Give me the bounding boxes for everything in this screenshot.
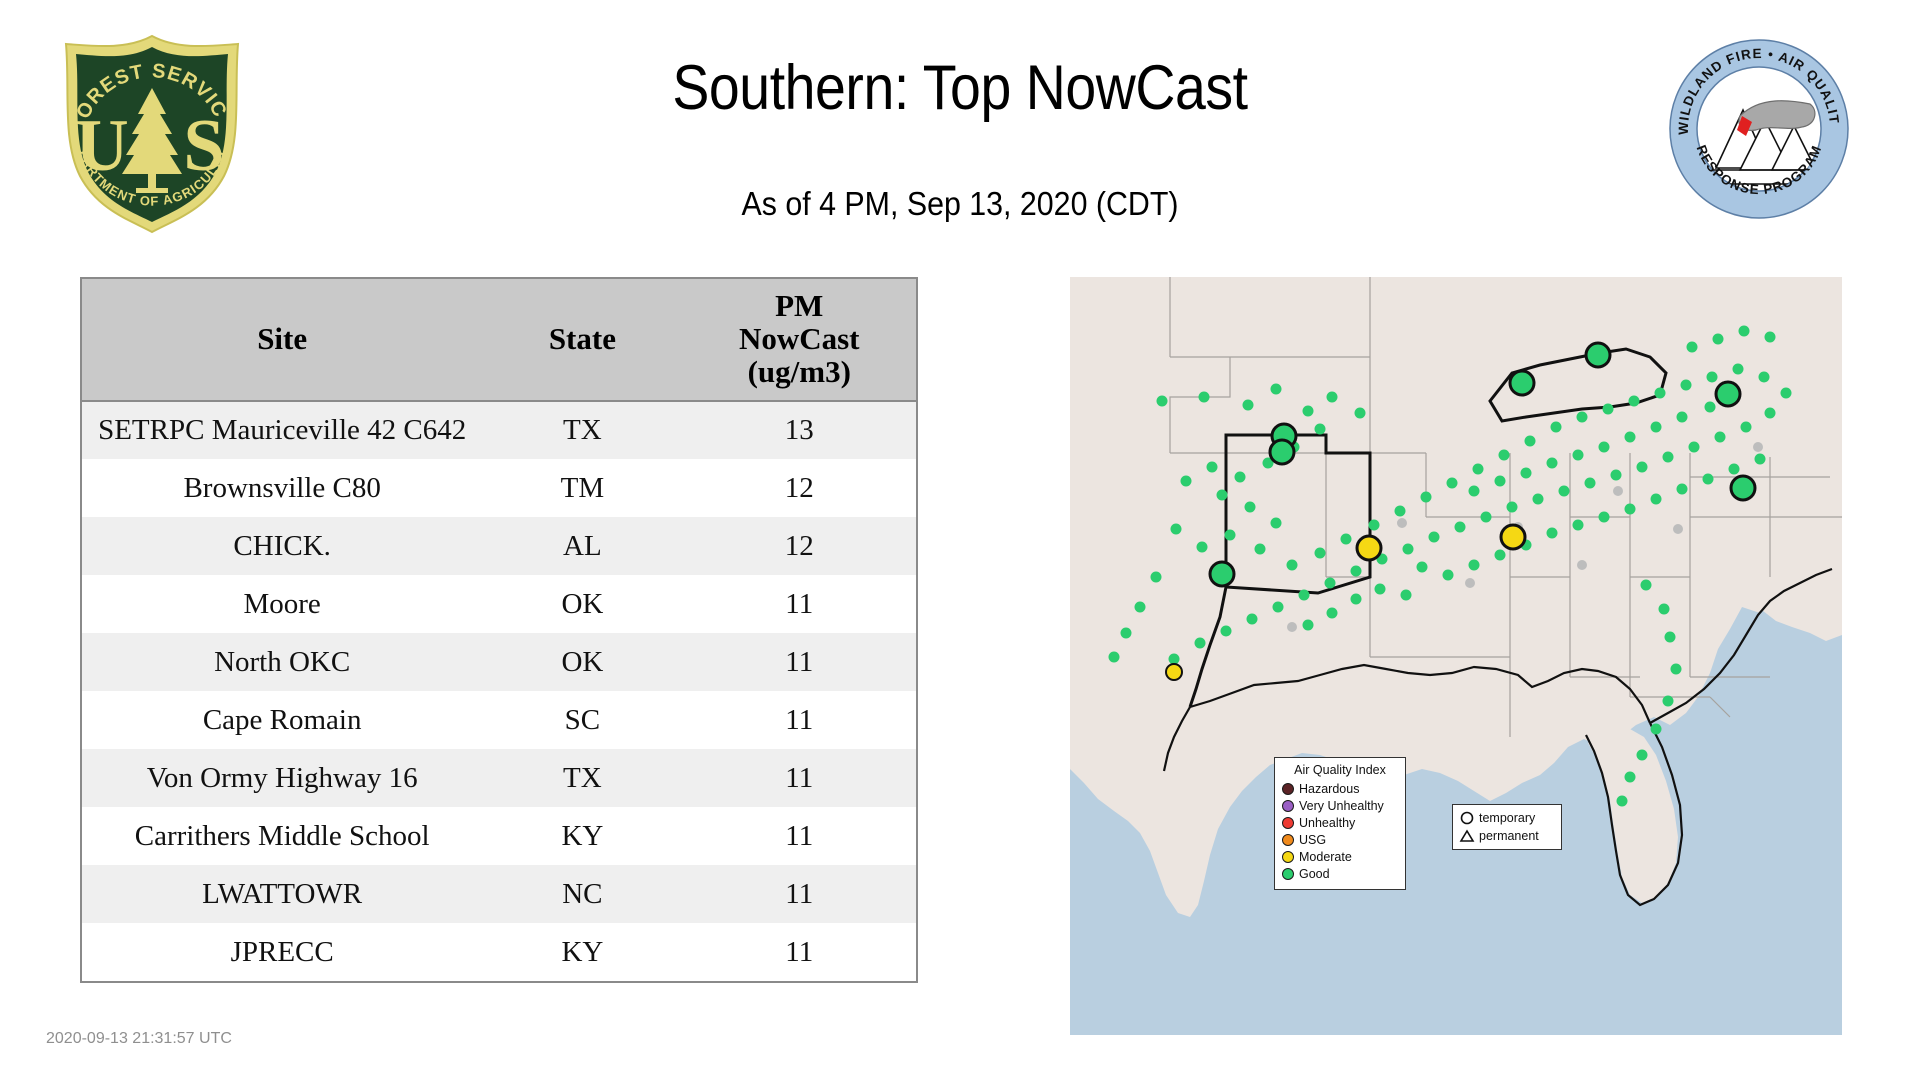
wildland-fire-air-quality-logo: WILDLAND FIRE • AIR QUALITY RESPONSE PRO… — [1668, 38, 1850, 220]
aqi-legend-title: Air Quality Index — [1282, 763, 1398, 777]
temporary-circle-icon — [1459, 810, 1475, 826]
cell-site: SETRPC Mauriceville 42 C642 — [82, 401, 482, 459]
cell-site: JPRECC — [82, 923, 482, 981]
cell-state: NC — [482, 865, 682, 923]
table-row: Carrithers Middle School KY 11 — [82, 807, 916, 865]
symbol-legend: temporary permanent — [1452, 804, 1562, 850]
marker-cape-romain — [1731, 476, 1755, 500]
page-title: Southern: Top NowCast — [379, 52, 1541, 124]
table-row: Cape Romain SC 11 — [82, 691, 916, 749]
column-header-value: PM NowCast (ug/m3) — [682, 279, 916, 401]
legend-label-permanent: permanent — [1479, 829, 1539, 843]
cell-value: 11 — [682, 865, 916, 923]
page-subtitle: As of 4 PM, Sep 13, 2020 (CDT) — [353, 185, 1567, 223]
legend-item-very-unhealthy: Very Unhealthy — [1282, 797, 1398, 814]
table-row: JPRECC KY 11 — [82, 923, 916, 981]
cell-state: OK — [482, 633, 682, 691]
cell-site: Cape Romain — [82, 691, 482, 749]
table-row: Brownsville C80 TM 12 — [82, 459, 916, 517]
cell-site: LWATTOWR — [82, 865, 482, 923]
table-row: Von Ormy Highway 16 TX 11 — [82, 749, 916, 807]
map-svg — [1070, 277, 1842, 1035]
cell-value: 12 — [682, 459, 916, 517]
legend-dot-hazardous — [1282, 783, 1294, 795]
cell-value: 12 — [682, 517, 916, 575]
table-header-row: Site State PM NowCast (ug/m3) — [82, 279, 916, 401]
cell-state: AL — [482, 517, 682, 575]
cell-state: SC — [482, 691, 682, 749]
cell-state: OK — [482, 575, 682, 633]
legend-label-unhealthy: Unhealthy — [1299, 816, 1355, 830]
legend-dot-unhealthy — [1282, 817, 1294, 829]
marker-brownsville-c80 — [1166, 664, 1182, 680]
marker-setrpc-mauriceville — [1357, 536, 1381, 560]
legend-item-temporary: temporary — [1459, 809, 1555, 827]
cell-site: North OKC — [82, 633, 482, 691]
marker-moore — [1270, 440, 1294, 464]
aqi-legend: Air Quality Index Hazardous Very Unhealt… — [1274, 757, 1406, 890]
cell-site: Moore — [82, 575, 482, 633]
permanent-triangle-icon — [1459, 828, 1475, 844]
slide-page: FOREST SERVICE U S DEPARTMENT OF AGRICUL… — [0, 0, 1920, 1080]
legend-dot-good — [1282, 868, 1294, 880]
cell-value: 11 — [682, 691, 916, 749]
air-quality-map: Air Quality Index Hazardous Very Unhealt… — [1070, 277, 1842, 1035]
legend-item-hazardous: Hazardous — [1282, 780, 1398, 797]
cell-value: 11 — [682, 575, 916, 633]
nowcast-table: Site State PM NowCast (ug/m3) SETRPC Mau… — [82, 279, 916, 981]
generation-timestamp: 2020-09-13 21:31:57 UTC — [46, 1030, 232, 1048]
marker-jprecc — [1510, 371, 1534, 395]
legend-item-unhealthy: Unhealthy — [1282, 814, 1398, 831]
table-row: Moore OK 11 — [82, 575, 916, 633]
table-row: North OKC OK 11 — [82, 633, 916, 691]
cell-state: KY — [482, 923, 682, 981]
cell-state: TX — [482, 749, 682, 807]
cell-state: TM — [482, 459, 682, 517]
legend-label-good: Good — [1299, 867, 1330, 881]
forest-service-logo: FOREST SERVICE U S DEPARTMENT OF AGRICUL… — [52, 30, 252, 235]
legend-item-moderate: Moderate — [1282, 848, 1398, 865]
table-body: SETRPC Mauriceville 42 C642 TX 13 Browns… — [82, 401, 916, 981]
marker-carrithers-middle-school — [1586, 343, 1610, 367]
cell-value: 11 — [682, 749, 916, 807]
column-header-state: State — [482, 279, 682, 401]
table-row: CHICK. AL 12 — [82, 517, 916, 575]
legend-dot-moderate — [1282, 851, 1294, 863]
legend-label-usg: USG — [1299, 833, 1326, 847]
cell-state: KY — [482, 807, 682, 865]
cell-value: 11 — [682, 633, 916, 691]
cell-value: 11 — [682, 923, 916, 981]
cell-site: CHICK. — [82, 517, 482, 575]
nowcast-table-container: Site State PM NowCast (ug/m3) SETRPC Mau… — [80, 277, 918, 983]
cell-site: Brownsville C80 — [82, 459, 482, 517]
cell-value: 13 — [682, 401, 916, 459]
marker-von-ormy-highway-16 — [1210, 562, 1234, 586]
legend-label-hazardous: Hazardous — [1299, 782, 1359, 796]
table-row: LWATTOWR NC 11 — [82, 865, 916, 923]
column-header-value-line2: NowCast — [682, 323, 916, 356]
column-header-value-line3: (ug/m3) — [682, 356, 916, 389]
legend-label-temporary: temporary — [1479, 811, 1535, 825]
cell-state: TX — [482, 401, 682, 459]
legend-item-usg: USG — [1282, 831, 1398, 848]
legend-dot-very-unhealthy — [1282, 800, 1294, 812]
cell-site: Carrithers Middle School — [82, 807, 482, 865]
legend-item-good: Good — [1282, 865, 1398, 882]
legend-label-very-unhealthy: Very Unhealthy — [1299, 799, 1384, 813]
legend-label-moderate: Moderate — [1299, 850, 1352, 864]
table-row: SETRPC Mauriceville 42 C642 TX 13 — [82, 401, 916, 459]
column-header-value-line1: PM — [682, 290, 916, 323]
legend-item-permanent: permanent — [1459, 827, 1555, 845]
legend-dot-usg — [1282, 834, 1294, 846]
column-header-site: Site — [82, 279, 482, 401]
marker-chick — [1501, 525, 1525, 549]
cell-value: 11 — [682, 807, 916, 865]
marker-lwattowr — [1716, 382, 1740, 406]
cell-site: Von Ormy Highway 16 — [82, 749, 482, 807]
